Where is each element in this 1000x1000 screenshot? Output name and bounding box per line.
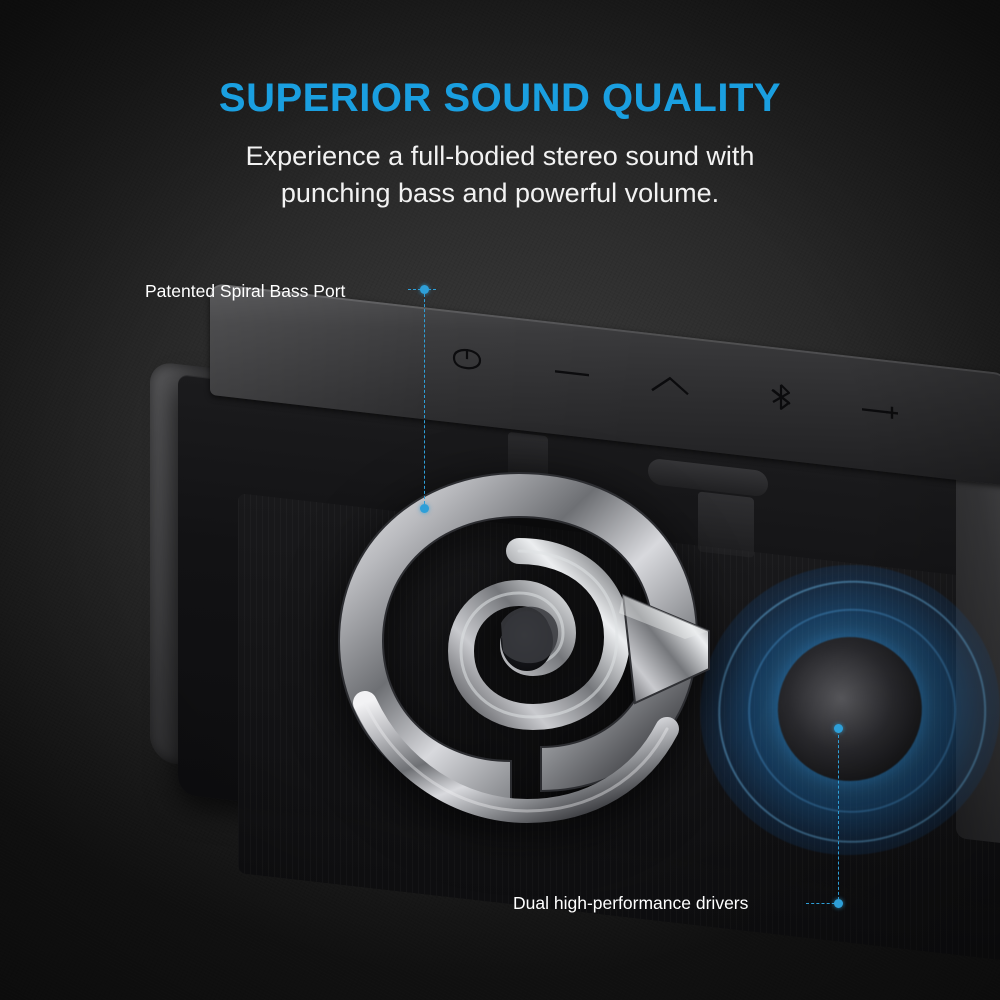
callout-label-drivers: Dual high-performance drivers [513,893,748,914]
subtitle-line-1: Experience a full-bodied stereo sound wi… [0,138,1000,175]
subtitle-line-2: punching bass and powerful volume. [0,175,1000,212]
callout-dot-drivers-end [834,899,843,908]
callout-dot-bass-port-start [420,285,429,294]
callout-dot-drivers-start [834,724,843,733]
callout-label-bass-port: Patented Spiral Bass Port [145,281,345,302]
page-title: SUPERIOR SOUND QUALITY [0,76,1000,120]
callout-dot-bass-port-end [420,504,429,513]
page-subtitle: Experience a full-bodied stereo sound wi… [0,138,1000,213]
